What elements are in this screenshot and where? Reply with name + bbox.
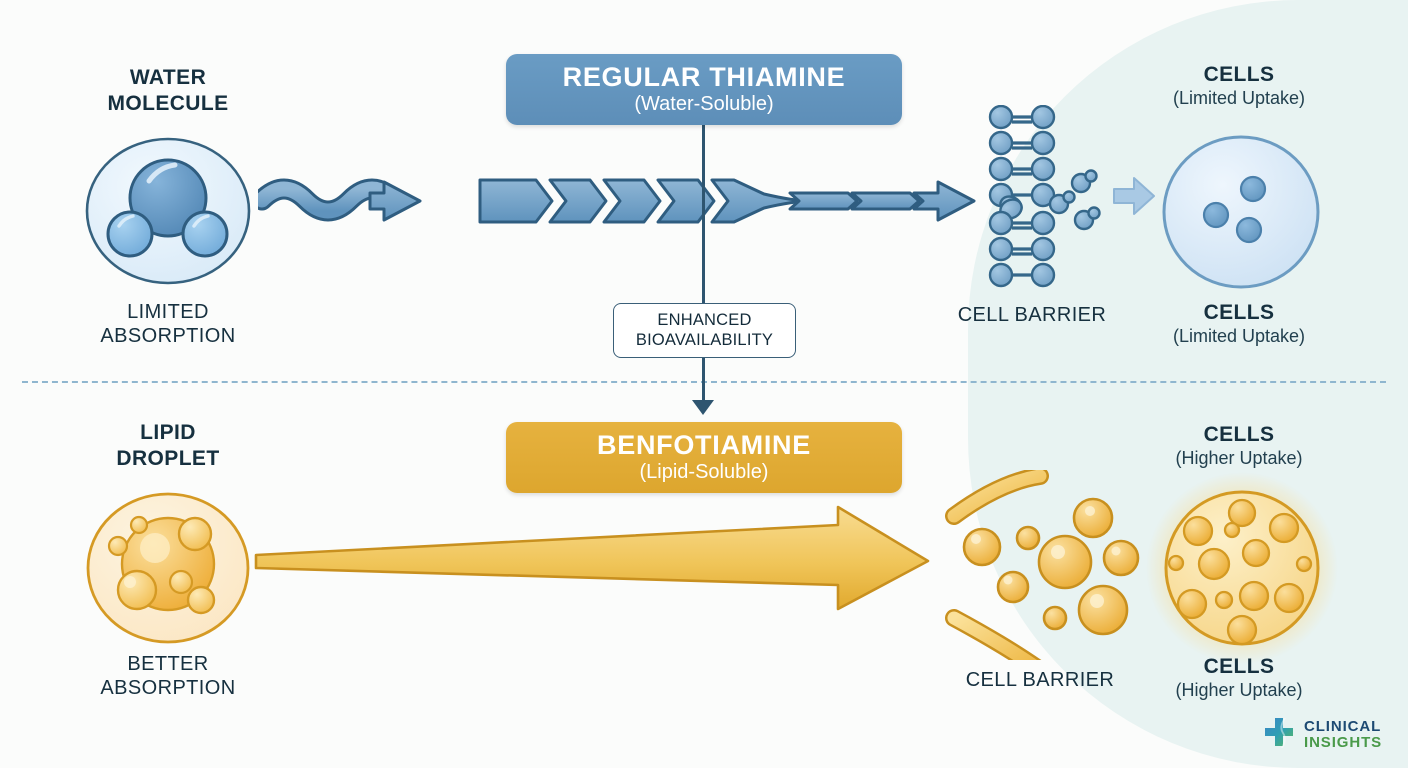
bioavailability-line2: BIOAVAILABILITY (636, 331, 773, 349)
brand-logo[interactable]: CLINICAL INSIGHTS (1262, 712, 1398, 758)
benfotiamine-card[interactable]: BENFOTIAMINE (Lipid-Soluble) (506, 422, 902, 493)
cells-label-bottom-below-sub: (Higher Uptake) (1128, 680, 1350, 702)
connector-arrowhead (692, 400, 714, 415)
regular-thiamine-card[interactable]: REGULAR THIAMINE (Water-Soluble) (506, 54, 902, 125)
cell-barrier-text-bottom: CELL BARRIER (936, 668, 1144, 692)
cell-barrier-label-bottom: CELL BARRIER (936, 668, 1144, 692)
cell-barrier-bilayer-illustration (985, 105, 1165, 290)
bioavailability-line1: ENHANCED (657, 311, 751, 329)
lipid-droplet-illustration (83, 490, 253, 646)
benfotiamine-flow-arrow (252, 505, 932, 615)
lipid-droplet-label: LIPID DROPLET (48, 420, 288, 471)
connector-line-lower (702, 356, 705, 406)
cell-barrier-text-top: CELL BARRIER (928, 303, 1136, 327)
cells-label-bottom-above: CELLS (Higher Uptake) (1128, 422, 1350, 470)
brand-name-line2: INSIGHTS (1304, 735, 1382, 751)
water-molecule-label-line1: WATER (48, 65, 288, 91)
infographic-canvas: WATER MOLECULE (0, 0, 1408, 768)
water-molecule-illustration (83, 136, 253, 286)
cells-label-bottom-above-line1: CELLS (1128, 422, 1350, 448)
cells-label-top-below: CELLS (Limited Uptake) (1128, 300, 1350, 348)
lipid-droplet-label-line2: DROPLET (48, 446, 288, 472)
cells-label-bottom-below-line1: CELLS (1128, 654, 1350, 680)
permeable-barrier-illustration (940, 470, 1160, 660)
cell-barrier-label-top: CELL BARRIER (928, 303, 1136, 327)
cells-label-top-below-line1: CELLS (1128, 300, 1350, 326)
benfotiamine-subtitle: (Lipid-Soluble) (640, 461, 769, 484)
water-molecule-label: WATER MOLECULE (48, 65, 288, 116)
limited-absorption-line1: LIMITED (48, 300, 288, 324)
cells-label-top-above: CELLS (Limited Uptake) (1128, 62, 1350, 110)
cells-label-bottom-below: CELLS (Higher Uptake) (1128, 654, 1350, 702)
cells-label-top-above-line1: CELLS (1128, 62, 1350, 88)
cells-label-top-below-sub: (Limited Uptake) (1128, 326, 1350, 348)
cells-label-bottom-above-sub: (Higher Uptake) (1128, 448, 1350, 470)
better-absorption-line1: BETTER (48, 652, 288, 676)
lipid-droplet-label-line1: LIPID (48, 420, 288, 446)
connector-line-upper (702, 125, 705, 305)
better-absorption-caption: BETTER ABSORPTION (48, 652, 288, 701)
thiamine-flow-arrow (258, 170, 978, 236)
cells-label-top-above-sub: (Limited Uptake) (1128, 88, 1350, 110)
regular-thiamine-subtitle: (Water-Soluble) (634, 93, 773, 116)
limited-absorption-caption: LIMITED ABSORPTION (48, 300, 288, 349)
cell-higher-uptake-illustration (1144, 472, 1340, 664)
water-molecule-label-line2: MOLECULE (48, 91, 288, 117)
benfotiamine-title: BENFOTIAMINE (597, 431, 811, 459)
medical-cross-icon (1262, 716, 1296, 755)
better-absorption-line2: ABSORPTION (48, 676, 288, 700)
cell-limited-uptake-illustration (1160, 133, 1322, 291)
enhanced-bioavailability-callout[interactable]: ENHANCED BIOAVAILABILITY (613, 303, 796, 358)
regular-thiamine-title: REGULAR THIAMINE (563, 63, 846, 91)
brand-name-line1: CLINICAL (1304, 719, 1382, 735)
limited-absorption-line2: ABSORPTION (48, 324, 288, 348)
